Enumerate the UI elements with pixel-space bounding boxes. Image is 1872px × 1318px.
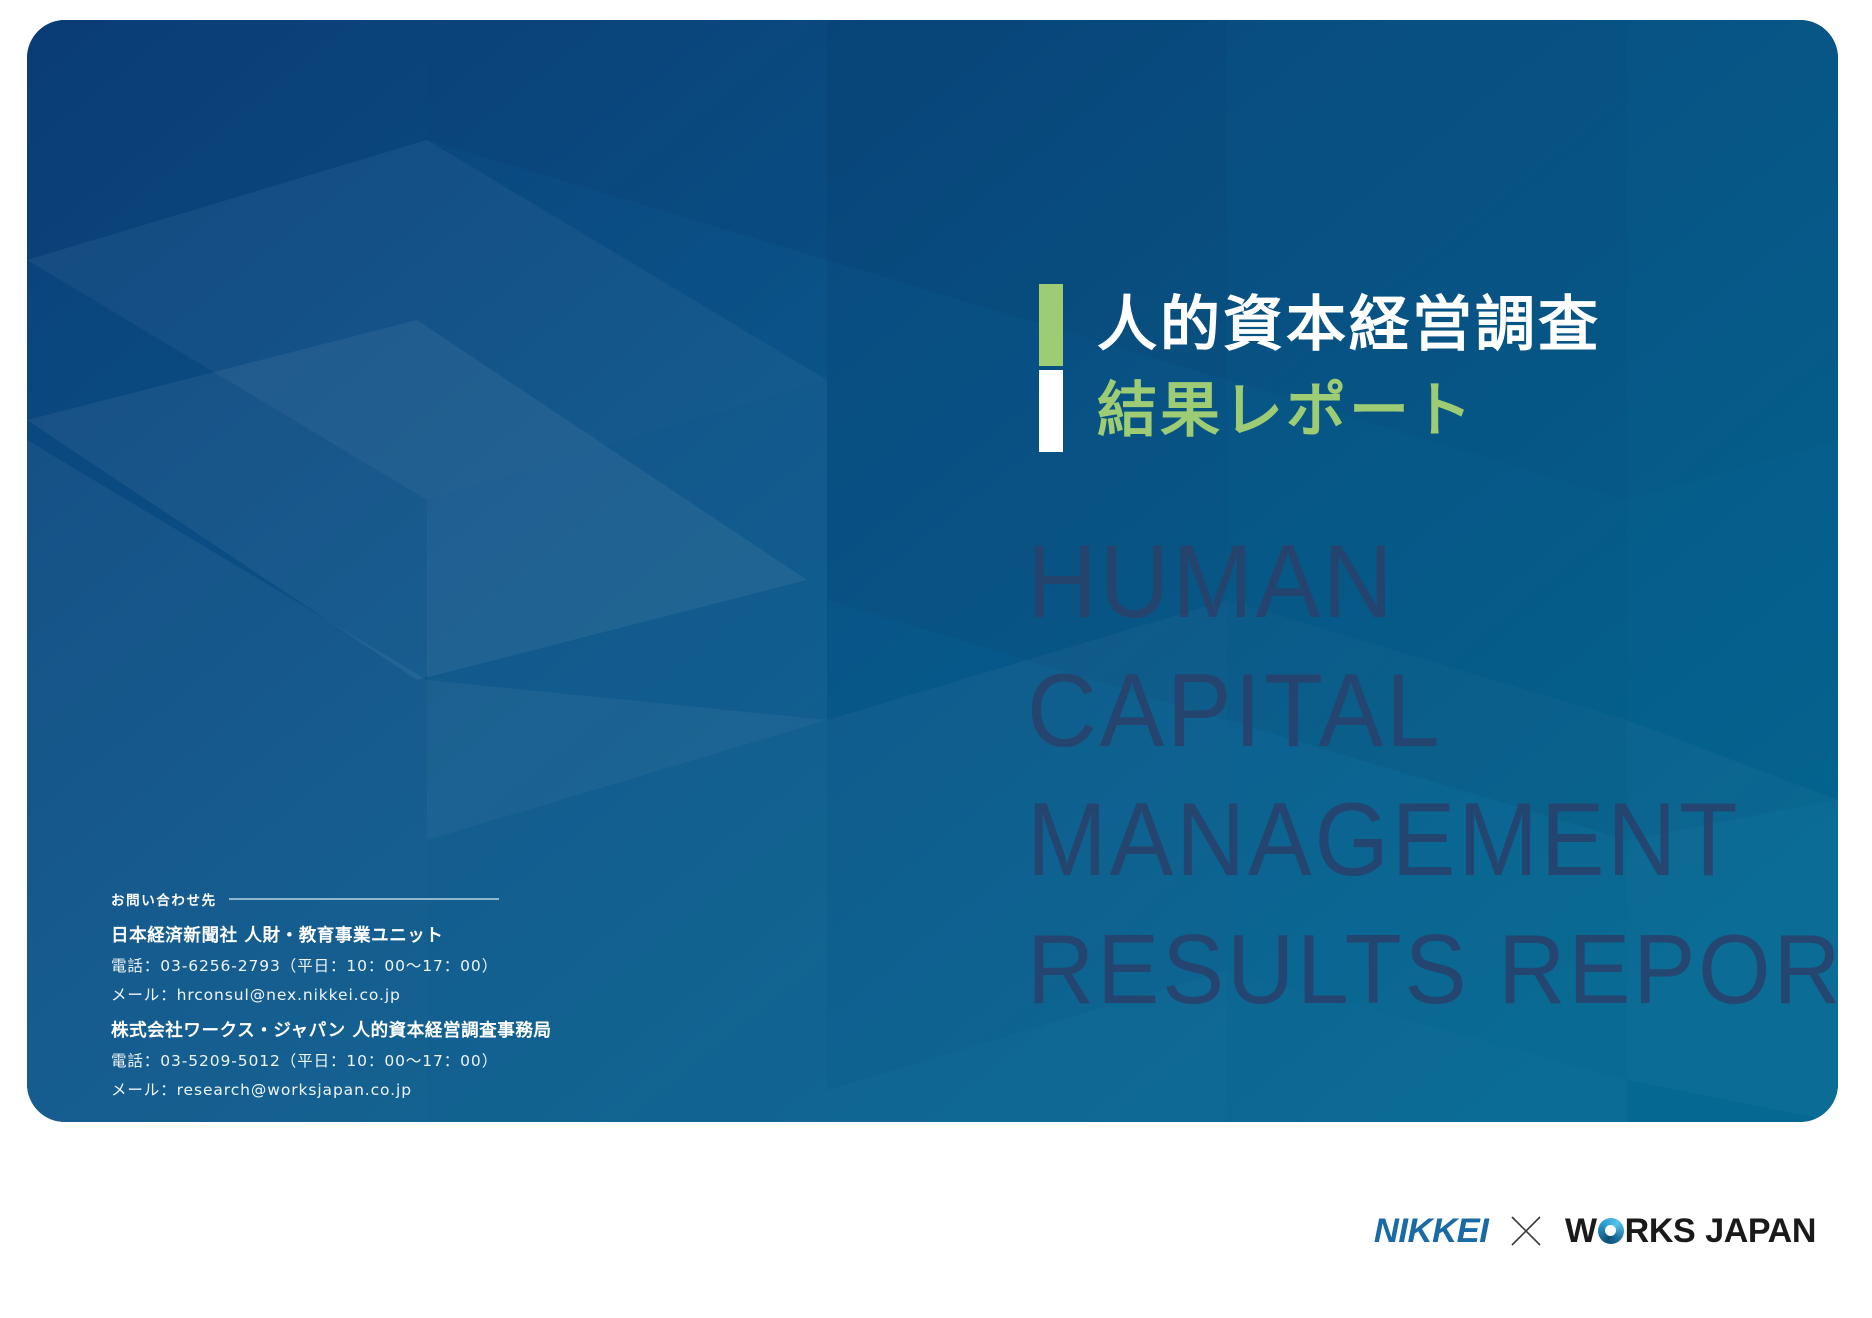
contact-email[interactable]: メール：hrconsul@nex.nikkei.co.jp [111,983,571,1005]
x-cross-icon [1509,1214,1543,1248]
accent-bar-green [1039,284,1063,366]
contact-group-worksjapan: 株式会社ワークス・ジャパン 人的資本経営調査事務局 電話：03-5209-501… [111,1017,571,1100]
works-japan-logo: W RKS JAPAN [1565,1212,1816,1251]
page-title: 人的資本経営調査 [1097,292,1601,358]
contact-heading-divider [229,898,499,900]
cover-title-block: 人的資本経営調査 結果レポート [1039,282,1601,454]
contact-org-name: 株式会社ワークス・ジャパン 人的資本経営調査事務局 [111,1017,571,1042]
works-logo-rks: RKS [1625,1212,1696,1251]
contact-heading-label: お問い合わせ先 [111,889,217,909]
contact-phone: 電話：03-5209-5012（平日：10：00〜17：00） [111,1049,571,1071]
contact-block: お問い合わせ先 日本経済新聞社 人財・教育事業ユニット 電話：03-6256-2… [111,888,571,1100]
contact-org-name: 日本経済新聞社 人財・教育事業ユニット [111,922,571,947]
ring-o-icon [1598,1218,1624,1244]
cover-card: HUMAN CAPITAL MANAGEMENT RESULTS REPORT … [27,20,1838,1122]
nikkei-logo: NIKKEI [1374,1212,1488,1251]
works-logo-w: W [1565,1212,1597,1251]
title-row-sub: 結果レポート [1039,368,1601,454]
contact-phone: 電話：03-6256-2793（平日：10：00〜17：00） [111,954,571,976]
contact-email[interactable]: メール：research@worksjapan.co.jp [111,1078,571,1100]
works-logo-japan: JAPAN [1705,1212,1816,1251]
page-subtitle: 結果レポート [1097,378,1475,444]
contact-group-nikkei: 日本経済新聞社 人財・教育事業ユニット 電話：03-6256-2793（平日：1… [111,922,571,1005]
footer-logo-lockup: NIKKEI W RKS JAPAN [1375,1208,1816,1254]
title-row-main: 人的資本経営調査 [1039,282,1601,368]
contact-heading-row: お問い合わせ先 [111,888,571,910]
accent-bar-white [1039,370,1063,452]
